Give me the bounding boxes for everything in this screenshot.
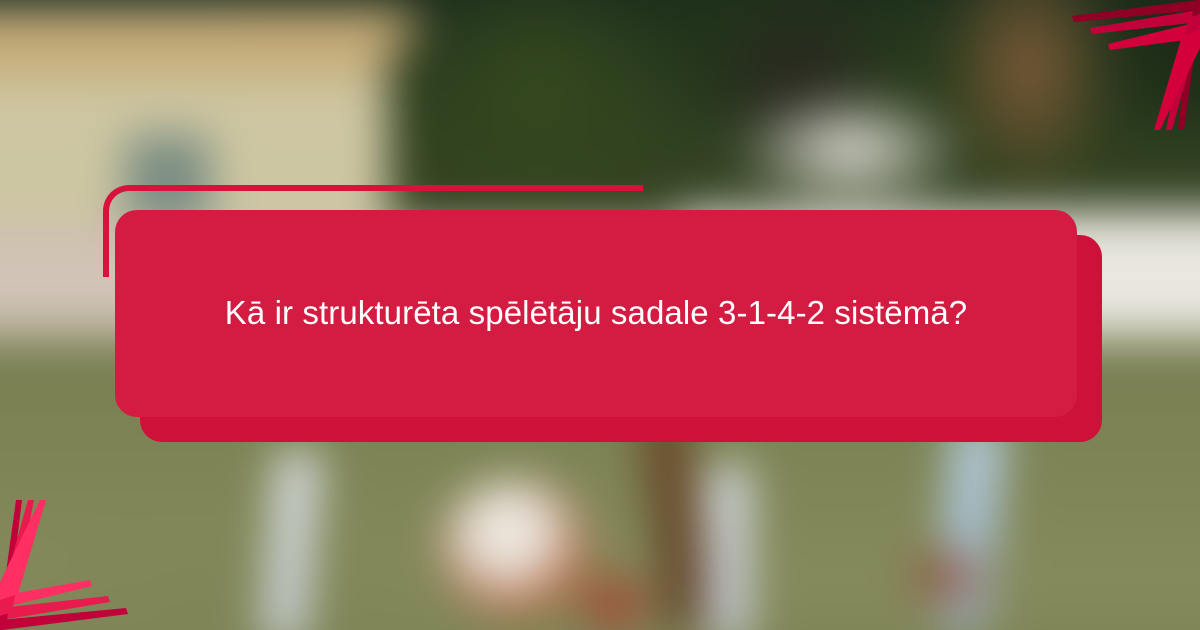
headline-card: Kā ir strukturēta spēlētāju sadale 3-1-4… [100, 180, 1102, 448]
card-title-text: Kā ir strukturēta spēlētāju sadale 3-1-4… [115, 210, 1077, 417]
background-red-shoe [574, 570, 653, 630]
background-player-leg [706, 465, 751, 630]
background-soccer-ball [442, 480, 587, 615]
background-red-shoe [904, 540, 990, 615]
share-card-canvas: Kā ir strukturēta spēlētāju sadale 3-1-4… [0, 0, 1200, 630]
